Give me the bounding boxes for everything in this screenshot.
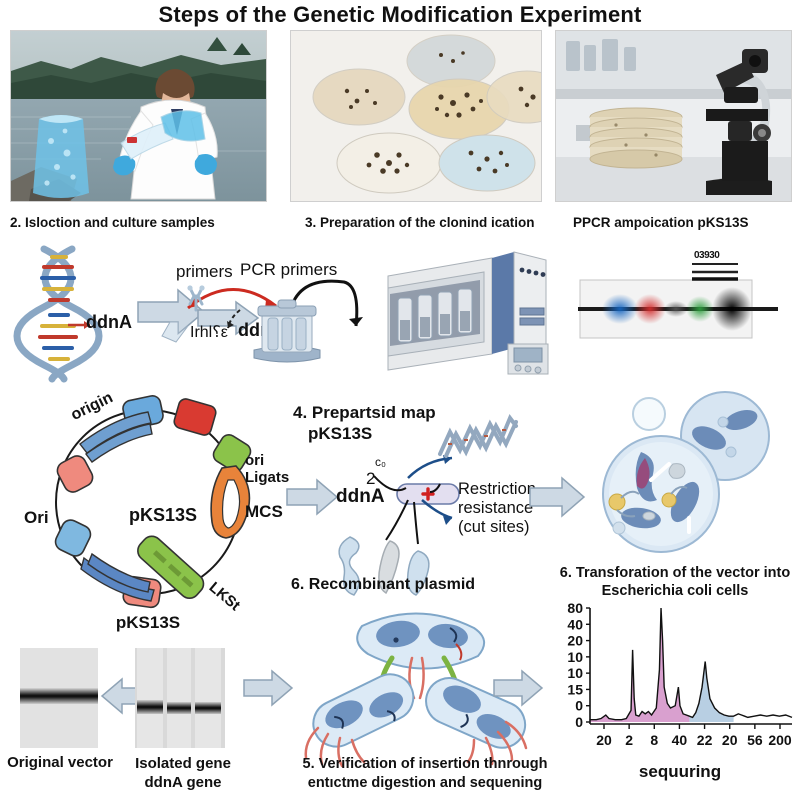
chart-y-tick-label: 40 <box>567 616 583 632</box>
arrow-step4-to-transformation <box>528 475 586 519</box>
chromatogram-chart: 80402010101500202840222056200 <box>550 600 800 760</box>
chart-x-tick-label: 20 <box>722 732 738 748</box>
caption-step-3: 3. Preparation of the clonind ication <box>305 215 595 230</box>
plasmid-label-ori-ligats: ori Ligats <box>245 452 289 486</box>
ori-line: ori <box>245 452 289 469</box>
ligats-line: Ligats <box>245 469 289 486</box>
gel-ladder-bands <box>692 262 742 282</box>
chart-x-tick-label: 2 <box>625 732 633 748</box>
chart-x-tick-label: 200 <box>768 732 792 748</box>
arrow-bacteria-to-chart <box>492 668 544 708</box>
chart-y-tick-label: 15 <box>567 681 583 697</box>
step6-recombinant-heading: 6. Recombinant plasmid <box>291 576 475 594</box>
plasmid-label-ori: Ori <box>24 508 49 528</box>
chart-trace <box>590 608 792 720</box>
chart-x-tick-label: 20 <box>596 732 612 748</box>
thermocycler-machine <box>388 248 548 378</box>
caption-isolated-gene: Isolated gene ddnA gene <box>118 754 248 792</box>
label-ddna-helix: ddnA <box>86 312 132 333</box>
caption-original-vector: Original vector <box>0 754 120 771</box>
chart-y-tick-label: 10 <box>567 665 583 681</box>
caption-step-2: 2. Isloction and culture samples <box>10 215 290 230</box>
step5-caption-line-1: 5. Verification of insertion thnrough <box>280 755 570 774</box>
gel-original-vector <box>20 648 98 748</box>
page-title: Steps of the Genetic Modification Experi… <box>0 2 800 28</box>
arrow-plasmid-to-step4 <box>285 477 339 517</box>
restriction-line-2: resistance <box>458 499 536 518</box>
chart-y-tick-label: 0 <box>575 714 583 730</box>
step4-subheading: pKS13S <box>308 424 372 444</box>
photo-water-sampling <box>10 30 267 202</box>
step4-restriction-text: Restriction resistance (cut sites) <box>458 480 536 537</box>
caption-step-6-transformation: 6. Transforation of the vector into Esch… <box>550 564 800 600</box>
plasmid-label-mcs: MCS <box>245 502 283 522</box>
photo-microscope <box>555 30 792 202</box>
photo-petri-dishes <box>290 30 542 202</box>
chart-x-tick-label: 22 <box>697 732 713 748</box>
restriction-line-3: (cut sites) <box>458 518 536 537</box>
chart-y-tick-label: 10 <box>567 649 583 665</box>
transformation-caption-line-1: 6. Transforation of the vector into <box>550 564 800 582</box>
caption-step-5: 5. Verification of insertion thnrough en… <box>280 755 570 793</box>
restriction-line-1: Restriction <box>458 480 536 499</box>
plasmid-name-center: pKS13S <box>108 505 218 526</box>
gel-isolated-gene <box>135 648 225 748</box>
transformation-cells-diagram <box>585 390 795 555</box>
gel-electrophoresis-colored <box>578 278 778 340</box>
caption-pcr-amplification: PPCR ampoication pKS13S <box>573 215 800 230</box>
step4-heading: 4. Prepartsid map <box>293 403 436 423</box>
chart-xlabel: sequuring <box>600 762 760 782</box>
transformation-caption-line-2: Escherichia coli cells <box>550 582 800 600</box>
step5-caption-line-2: entıctme digestion and sequening <box>280 774 570 793</box>
step4-dna-squiggle <box>436 398 520 462</box>
tube-rack-icon <box>248 294 326 362</box>
chart-y-tick-label: 80 <box>567 600 583 616</box>
isolated-gene-line-1: Isolated gene <box>118 754 248 773</box>
chart-area-fill <box>590 608 689 722</box>
dashed-pointer <box>222 308 246 334</box>
plasmid-name-bottom: pKS13S <box>88 613 208 633</box>
gel-ladder-label: 03930 <box>694 250 719 261</box>
chart-y-tick-label: 0 <box>575 698 583 714</box>
chart-x-tick-label: 40 <box>672 732 688 748</box>
arrow-gel-to-bacteria <box>242 668 294 708</box>
chart-x-tick-label: 56 <box>747 732 763 748</box>
isolated-gene-line-2: ddnA gene <box>118 773 248 792</box>
chart-x-tick-label: 8 <box>650 732 658 748</box>
chart-y-tick-label: 20 <box>567 633 583 649</box>
